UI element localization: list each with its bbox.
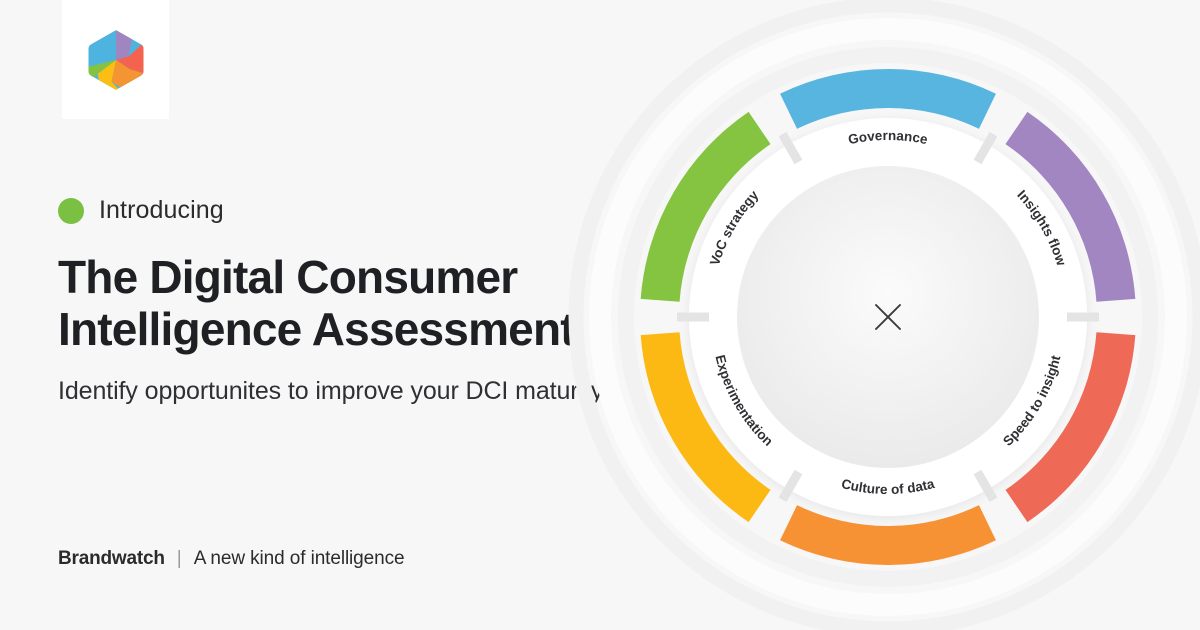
footer-brand: Brandwatch — [58, 548, 165, 570]
bullet-dot-icon — [58, 198, 84, 224]
eyebrow-label: Introducing — [99, 196, 224, 225]
dci-wheel-svg: GovernanceInsights flowSpeed to insightC… — [568, 0, 1200, 630]
page-title-line-2: Intelligence Assessment — [58, 303, 575, 355]
footer-separator: | — [177, 548, 182, 570]
dci-maturity-wheel: GovernanceInsights flowSpeed to insightC… — [568, 0, 1200, 630]
brandwatch-hexagon-logo — [87, 29, 145, 91]
brand-logo-tile — [62, 0, 169, 119]
promo-card: Introducing The Digital Consumer Intelli… — [0, 0, 1200, 630]
page-title-line-1: The Digital Consumer — [58, 251, 517, 303]
footer-tagline: A new kind of intelligence — [194, 548, 405, 570]
footer: Brandwatch | A new kind of intelligence — [58, 548, 404, 570]
